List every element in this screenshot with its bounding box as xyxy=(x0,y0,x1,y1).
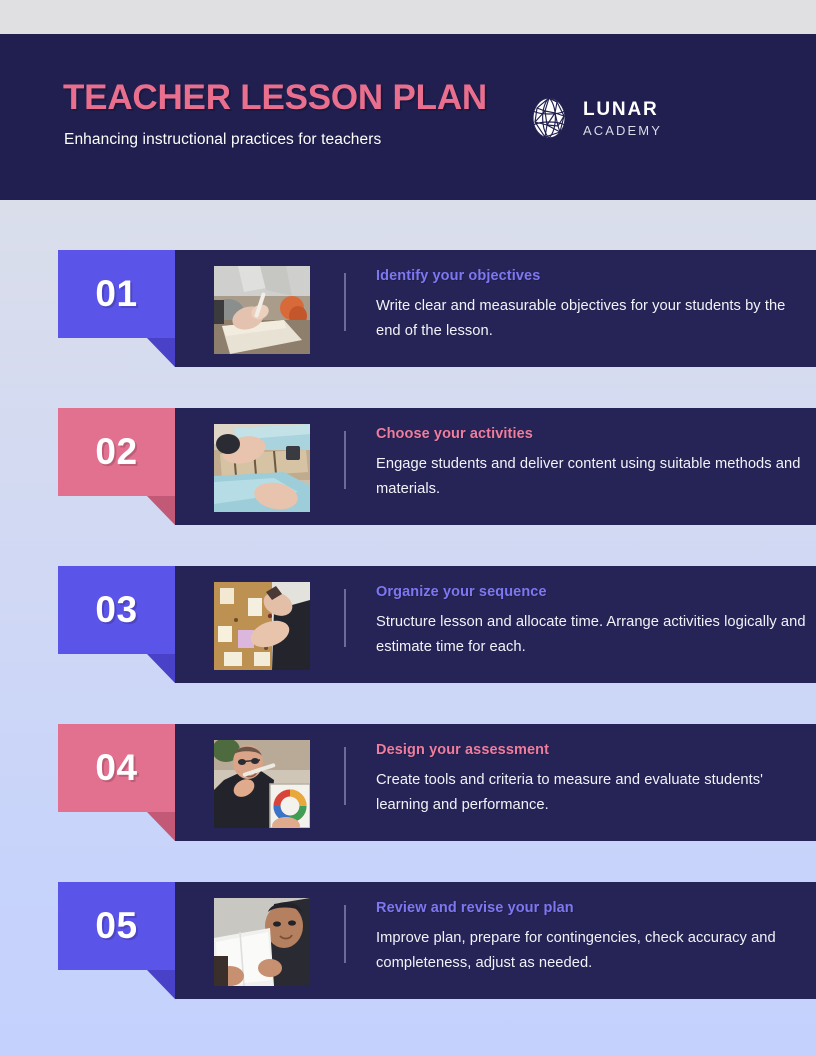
step-heading: Choose your activities xyxy=(376,426,806,442)
step-number-block: 01 xyxy=(58,250,175,338)
step-number-block: 04 xyxy=(58,724,175,812)
step-divider xyxy=(344,431,346,489)
step-body: Improve plan, prepare for contingencies,… xyxy=(376,926,806,977)
step-number: 01 xyxy=(95,273,137,315)
step-number: 04 xyxy=(95,747,137,789)
step-thumbnail xyxy=(214,424,310,512)
step-heading: Review and revise your plan xyxy=(376,900,806,916)
step-card-03[interactable]: 03 xyxy=(0,566,816,683)
step-thumbnail xyxy=(214,266,310,354)
step-text: Organize your sequence Structure lesson … xyxy=(376,584,806,661)
step-body: Structure lesson and allocate time. Arra… xyxy=(376,610,806,661)
step-text: Identify your objectives Write clear and… xyxy=(376,268,806,345)
step-divider xyxy=(344,747,346,805)
step-divider xyxy=(344,589,346,647)
step-body: Engage students and deliver content usin… xyxy=(376,452,806,503)
step-card-01[interactable]: 01 Identify your obj xyxy=(0,250,816,367)
step-tail xyxy=(147,970,175,999)
step-card-02[interactable]: 02 Choose your activ xyxy=(0,408,816,525)
step-number-block: 05 xyxy=(58,882,175,970)
step-text: Design your assessment Create tools and … xyxy=(376,742,806,819)
step-divider xyxy=(344,905,346,963)
step-divider xyxy=(344,273,346,331)
step-tail xyxy=(147,654,175,683)
step-card-04[interactable]: 04 xyxy=(0,724,816,841)
steps-list: 01 Identify your obj xyxy=(0,0,816,1056)
step-text: Choose your activities Engage students a… xyxy=(376,426,806,503)
step-card-05[interactable]: 05 Review and revise your pla xyxy=(0,882,816,999)
step-tail xyxy=(147,338,175,367)
step-number: 05 xyxy=(95,905,137,947)
step-number: 03 xyxy=(95,589,137,631)
step-heading: Design your assessment xyxy=(376,742,806,758)
step-tail xyxy=(147,812,175,841)
step-body: Create tools and criteria to measure and… xyxy=(376,768,806,819)
step-text: Review and revise your plan Improve plan… xyxy=(376,900,806,977)
step-thumbnail xyxy=(214,582,310,670)
step-heading: Organize your sequence xyxy=(376,584,806,600)
step-number-block: 02 xyxy=(58,408,175,496)
step-body: Write clear and measurable objectives fo… xyxy=(376,294,806,345)
step-thumbnail xyxy=(214,898,310,986)
step-heading: Identify your objectives xyxy=(376,268,806,284)
step-number-block: 03 xyxy=(58,566,175,654)
step-tail xyxy=(147,496,175,525)
step-number: 02 xyxy=(95,431,137,473)
step-thumbnail xyxy=(214,740,310,828)
